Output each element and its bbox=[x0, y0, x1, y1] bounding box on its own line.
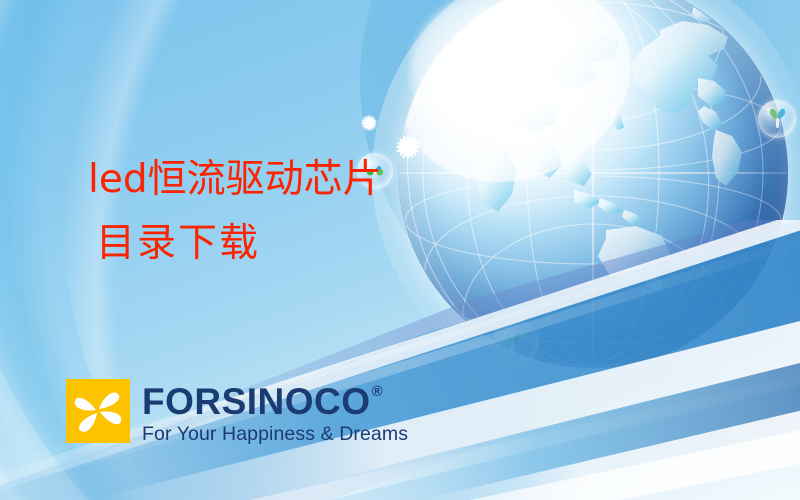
headline-line-2: 目录下载 bbox=[96, 224, 508, 264]
headline: led恒流驱动芯片 目录下载 bbox=[88, 160, 508, 264]
logo-tagline: For Your Happiness & Dreams bbox=[142, 425, 408, 445]
bubble-with-leaf-right bbox=[758, 100, 796, 138]
logo-wordmark-text: FORSINOCO bbox=[142, 383, 371, 420]
registered-trademark-icon: ® bbox=[372, 384, 384, 399]
bubble-with-green-sprout bbox=[492, 320, 538, 366]
four-petal-pinwheel-icon bbox=[66, 379, 130, 443]
headline-line-1: led恒流驱动芯片 bbox=[88, 160, 508, 200]
starburst-flower-small-icon bbox=[358, 112, 380, 134]
green-sprout-icon bbox=[492, 320, 538, 366]
company-logo[interactable]: FORSINOCO ® For Your Happiness & Dreams bbox=[66, 379, 408, 445]
logo-wordmark: FORSINOCO ® bbox=[142, 383, 408, 420]
logo-text-block: FORSINOCO ® For Your Happiness & Dreams bbox=[142, 379, 408, 445]
starburst-flower-large-icon bbox=[392, 131, 424, 163]
leaf-icon bbox=[758, 100, 796, 138]
promo-banner: led恒流驱动芯片 目录下载 FORSINOCO ® For Your Happ… bbox=[0, 0, 800, 500]
